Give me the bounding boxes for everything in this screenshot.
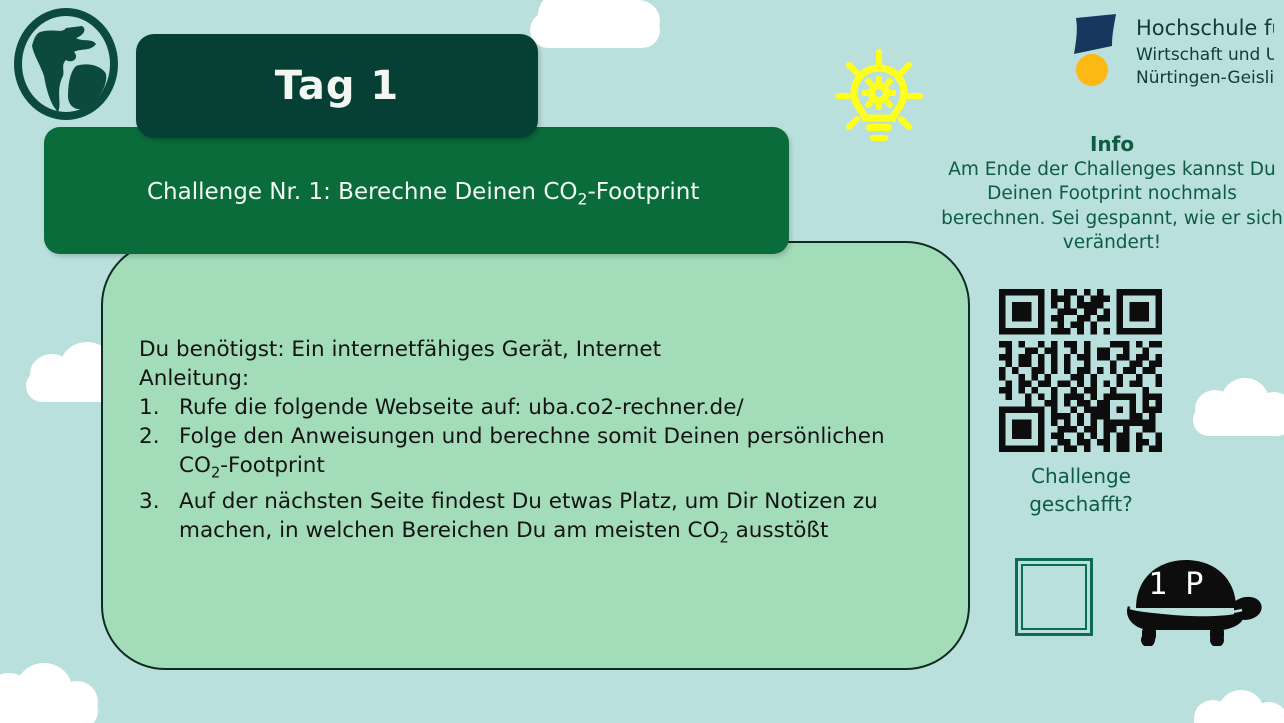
- cloud-bottom-left-icon: [0, 663, 98, 723]
- info-title: Info: [940, 132, 1284, 157]
- logo-line-1: Hochschule für: [1136, 16, 1274, 40]
- step-1-text: Rufe die folgende Webseite auf: uba.co2-…: [179, 395, 744, 420]
- cloud-top-middle-icon: [530, 0, 660, 48]
- list-item: Folge den Anweisungen und berechne somit…: [139, 422, 939, 487]
- instructions-content: Du benötigst: Ein internetfähiges Gerät,…: [139, 335, 939, 553]
- qr-caption: Challenge geschafft?: [1000, 462, 1162, 518]
- lightbulb-idea-icon: [834, 48, 924, 144]
- qr-code[interactable]: [999, 289, 1162, 452]
- globe-icon: [10, 8, 122, 120]
- list-item: Auf der nächsten Seite findest Du etwas …: [139, 487, 939, 552]
- hfwu-logo: Hochschule für Wirtschaft und Umwelt Nür…: [1070, 12, 1274, 92]
- info-block: Info Am Ende der Challenges kannst Du De…: [940, 132, 1284, 256]
- step-2-subscript: 2: [211, 464, 220, 481]
- instruction-steps-list: Rufe die folgende Webseite auf: uba.co2-…: [139, 393, 939, 553]
- step-3-text-after: ausstößt: [729, 518, 829, 543]
- instructions-panel: Du benötigst: Ein internetfähiges Gerät,…: [101, 241, 970, 670]
- logo-line-2: Wirtschaft und Umwelt: [1136, 45, 1274, 65]
- turtle-icon: [1118, 550, 1264, 646]
- challenge-title-part-1: Challenge Nr. 1: Berechne Deinen CO: [147, 179, 578, 205]
- logo-line-3: Nürtingen-Geislingen: [1136, 68, 1274, 88]
- step-3-subscript: 2: [720, 530, 729, 547]
- challenge-header-bar: Challenge Nr. 1: Berechne Deinen CO2-Foo…: [44, 127, 789, 254]
- challenge-title-part-2: -Footprint: [587, 179, 699, 205]
- page-title: Tag 1: [275, 63, 400, 109]
- challenge-title: Challenge Nr. 1: Berechne Deinen CO2-Foo…: [147, 179, 699, 209]
- cloud-bottom-middle-right-icon: [1192, 690, 1284, 723]
- list-item: Rufe die folgende Webseite auf: uba.co2-…: [139, 393, 939, 422]
- step-2-text-after: -Footprint: [220, 453, 325, 478]
- day-title-card: Tag 1: [136, 34, 538, 138]
- empty-checkbox[interactable]: [1015, 558, 1093, 636]
- info-text: Am Ende der Challenges kannst Du Deinen …: [941, 159, 1283, 254]
- challenge-title-subscript: 2: [578, 190, 588, 209]
- instructions-label: Anleitung:: [139, 364, 939, 393]
- requirements-line: Du benötigst: Ein internetfähiges Gerät,…: [139, 335, 939, 364]
- worksheet-page: Tag 1 Challenge Nr. 1: Berechne Deinen C…: [0, 0, 1284, 723]
- cloud-right-middle-icon: [1193, 378, 1284, 436]
